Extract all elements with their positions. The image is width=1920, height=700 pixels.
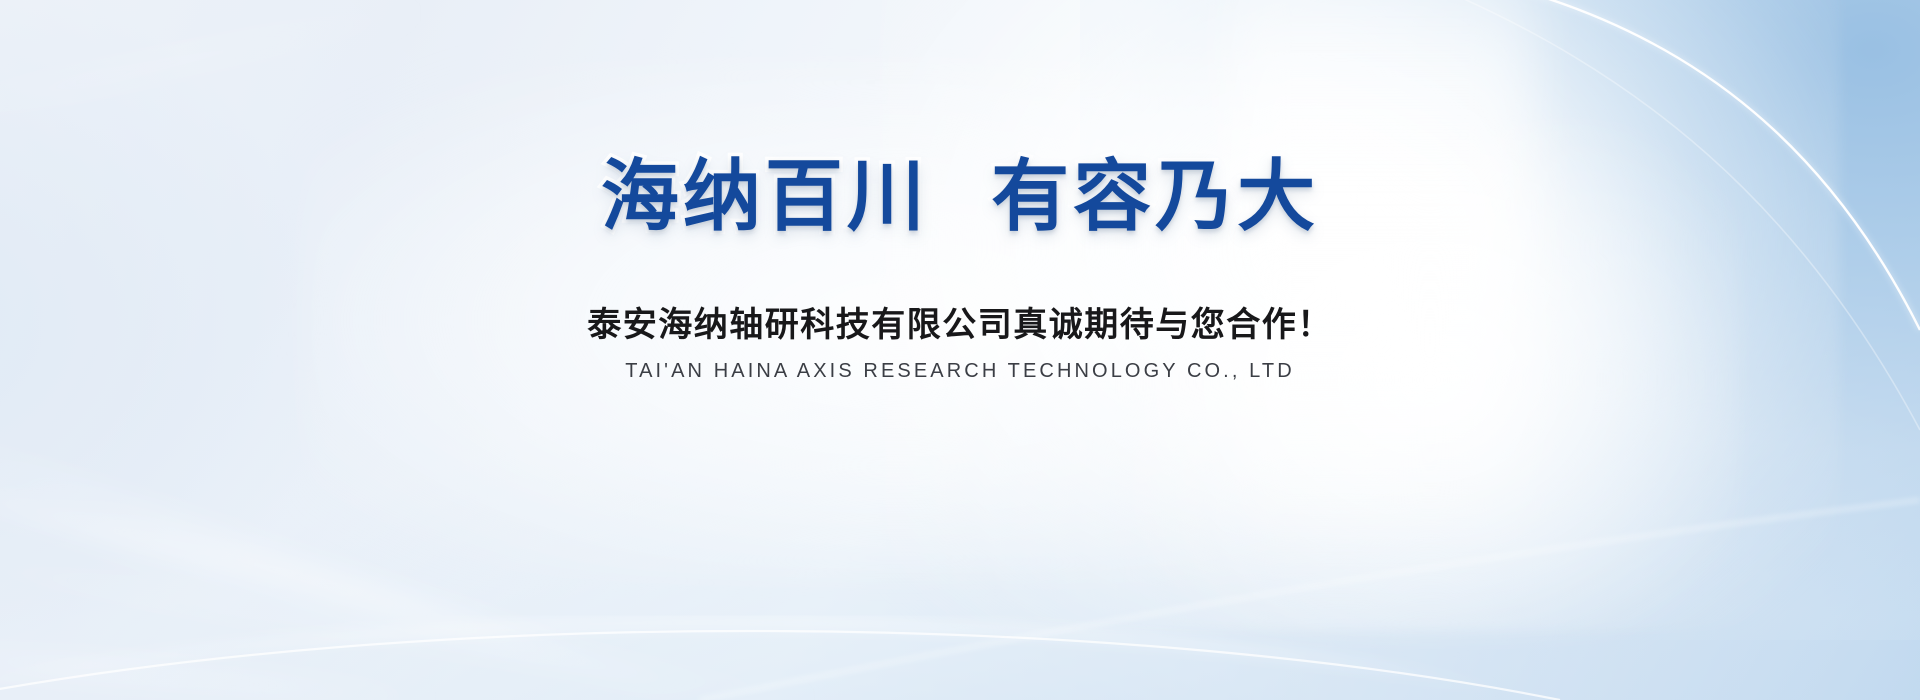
hero-banner: 海纳百川 有容乃大 泰安海纳轴研科技有限公司真诚期待与您合作！ TAI'AN H…	[0, 0, 1920, 700]
banner-subtitle-chinese: 泰安海纳轴研科技有限公司真诚期待与您合作！	[587, 297, 1333, 346]
banner-content: 海纳百川 有容乃大 泰安海纳轴研科技有限公司真诚期待与您合作！ TAI'AN H…	[0, 0, 1920, 700]
banner-subtitle-english: TAI'AN HAINA AXIS RESEARCH TECHNOLOGY CO…	[625, 360, 1295, 383]
banner-headline: 海纳百川 有容乃大	[601, 155, 1319, 239]
